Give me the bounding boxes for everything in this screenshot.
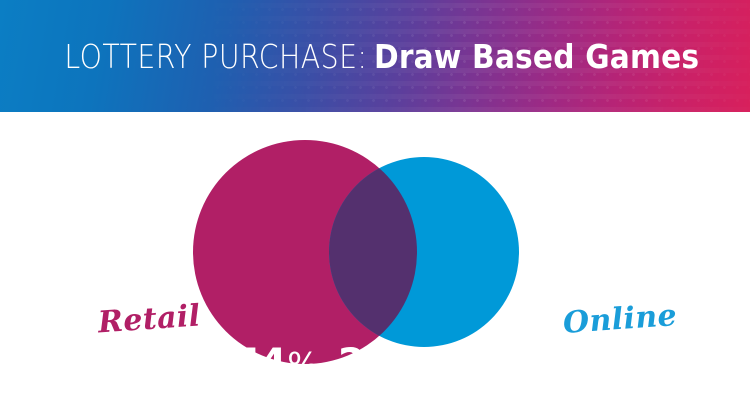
venn-value-online-symbol: % [494, 345, 525, 384]
venn-value-online-number: 26 [440, 341, 493, 386]
page-title-emphasis: Draw Based Games [374, 37, 699, 76]
venn-diagram: Retail Online 54% 20% 26% [0, 112, 750, 400]
page-title: LOTTERY PURCHASE:Draw Based Games [0, 0, 750, 112]
venn-value-retail-number: 54 [233, 341, 286, 386]
venn-value-retail-symbol: % [287, 345, 318, 384]
venn-value-online: 26% [440, 344, 526, 383]
venn-value-intersection-number: 20 [338, 341, 391, 386]
venn-value-retail: 54% [233, 344, 319, 383]
page-title-prefix: LOTTERY PURCHASE: [64, 37, 367, 76]
venn-value-intersection-symbol: % [392, 345, 423, 384]
header-banner: LOTTERY PURCHASE:Draw Based Games [0, 0, 750, 112]
infographic-canvas: LOTTERY PURCHASE:Draw Based Games Retail… [0, 0, 750, 400]
venn-value-intersection: 20% [338, 344, 424, 383]
venn-label-retail: Retail [97, 298, 202, 340]
